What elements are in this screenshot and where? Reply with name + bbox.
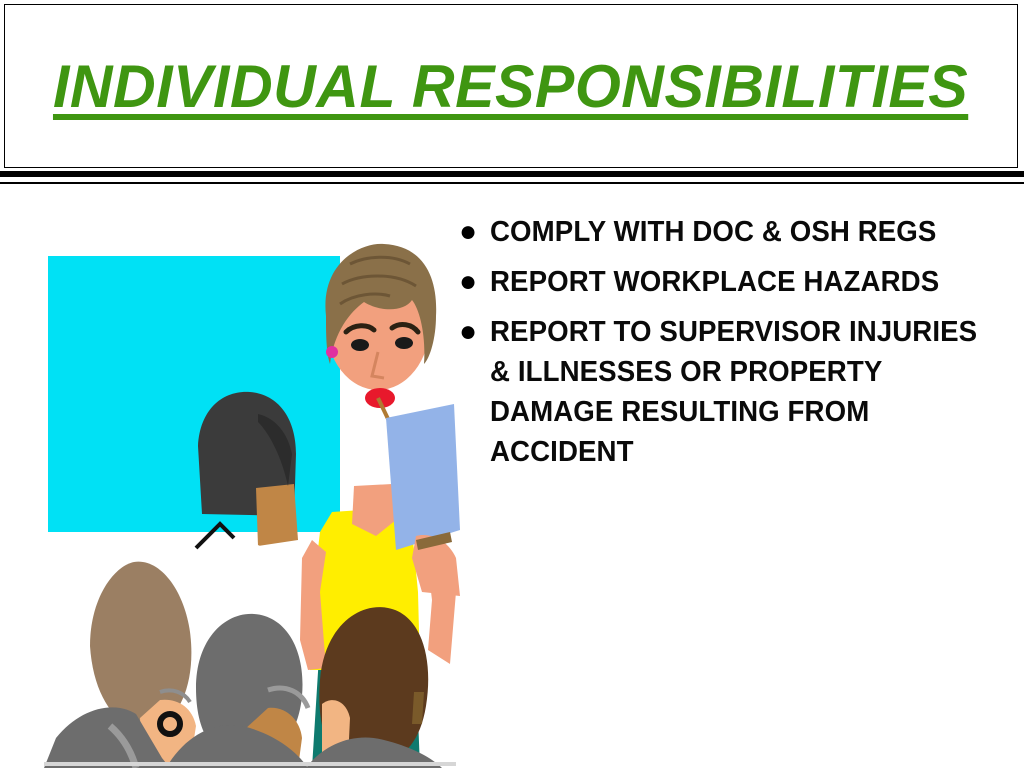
bullet-text: REPORT WORKPLACE HAZARDS (490, 262, 996, 302)
safety-meeting-illustration (20, 240, 460, 768)
header-divider-thick (0, 171, 1024, 177)
list-item: ● REPORT TO SUPERVISOR INJURIES & ILLNES… (452, 312, 1012, 472)
bullet-list: ● COMPLY WITH DOC & OSH REGS ● REPORT WO… (452, 212, 1012, 482)
header-divider-thin (0, 182, 1024, 184)
presenter-earring (326, 346, 338, 358)
audience-person-back-collar (190, 540, 288, 596)
list-item: ● COMPLY WITH DOC & OSH REGS (452, 212, 1012, 252)
blue-document (386, 404, 460, 550)
bullet-text: REPORT TO SUPERVISOR INJURIES & ILLNESSE… (490, 312, 996, 472)
audience-person-back-neck (256, 484, 298, 546)
floor-line (44, 762, 456, 766)
bullet-text: COMPLY WITH DOC & OSH REGS (490, 212, 996, 252)
page-title: INDIVIDUAL RESPONSIBILITIES (53, 55, 968, 118)
title-box: INDIVIDUAL RESPONSIBILITIES (4, 4, 1018, 168)
presenter-eye-right (395, 337, 413, 349)
presentation-board (48, 256, 340, 532)
slide-canvas: INDIVIDUAL RESPONSIBILITIES ● COMPLY WIT… (0, 0, 1024, 768)
list-item: ● REPORT WORKPLACE HAZARDS (452, 262, 1012, 302)
audience-person-right-tie (412, 692, 424, 724)
presenter-eye-left (351, 339, 369, 351)
